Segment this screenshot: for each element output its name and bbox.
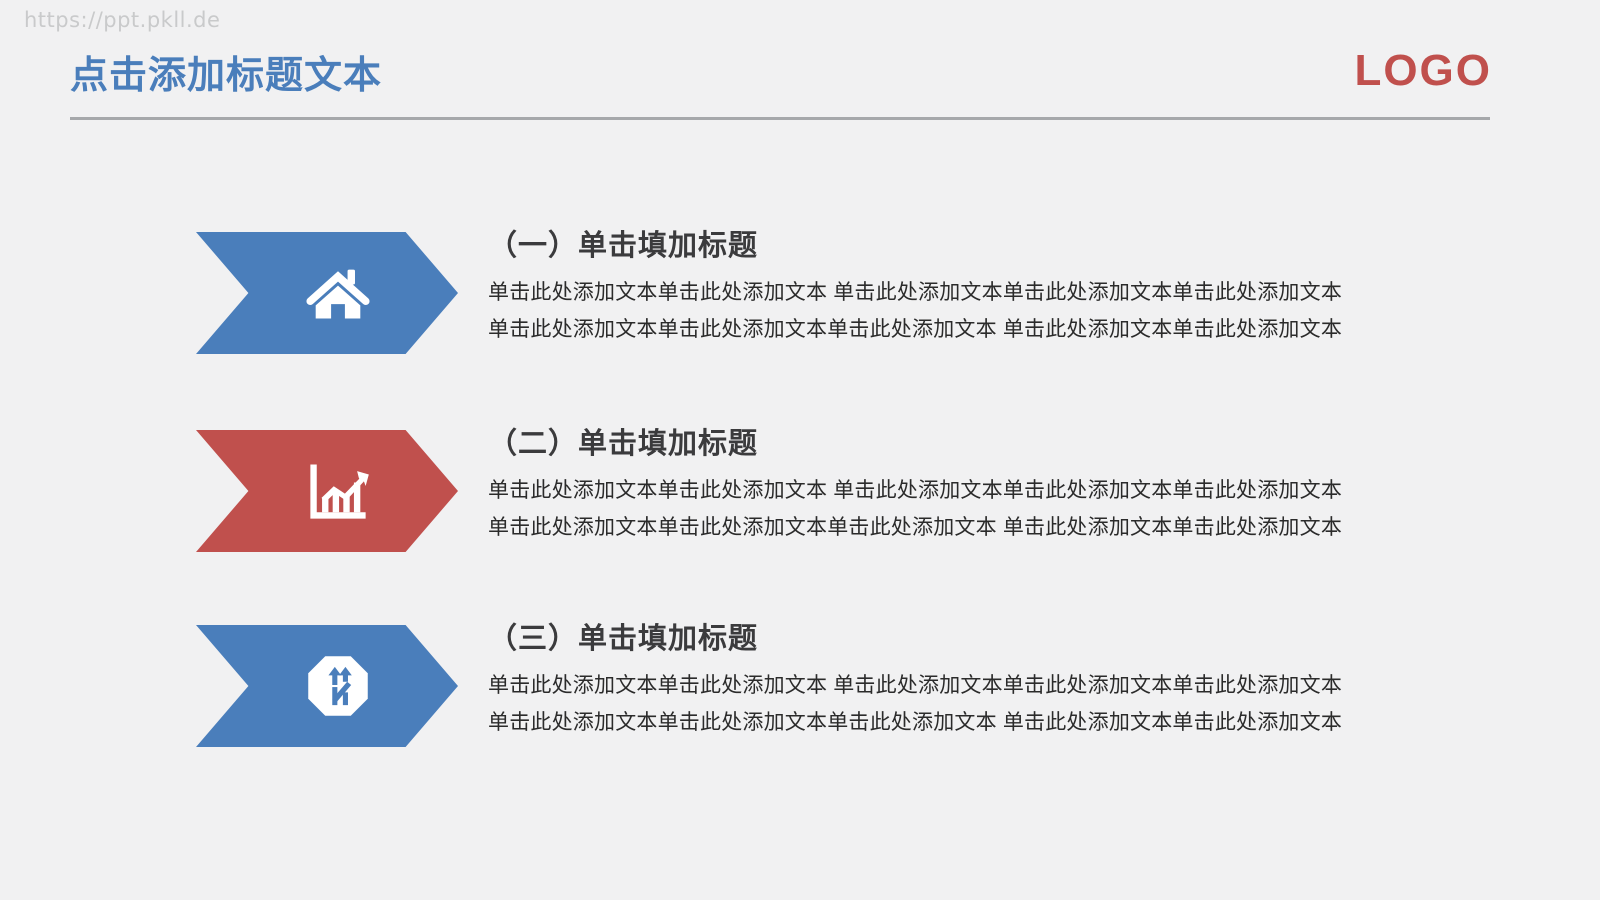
chevron-badge-1[interactable] [196, 232, 458, 354]
chevron-badge-3[interactable] [196, 625, 458, 747]
section-text-1: （一）单击填加标题 单击此处添加文本单击此处添加文本 单击此处添加文本单击此处添… [488, 222, 1388, 349]
section-body-line: 单击此处添加文本单击此处添加文本 单击此处添加文本单击此处添加文本单击此处添加文… [488, 667, 1388, 704]
list-item: （三）单击填加标题 单击此处添加文本单击此处添加文本 单击此处添加文本单击此处添… [0, 615, 1600, 775]
list-item: （二）单击填加标题 单击此处添加文本单击此处添加文本 单击此处添加文本单击此处添… [0, 420, 1600, 580]
shuffle-arrows-octagon-icon [304, 652, 372, 720]
section-body-line: 单击此处添加文本单击此处添加文本 单击此处添加文本单击此处添加文本单击此处添加文… [488, 472, 1388, 509]
sections-list: （一）单击填加标题 单击此处添加文本单击此处添加文本 单击此处添加文本单击此处添… [0, 0, 1600, 900]
section-heading: （三）单击填加标题 [488, 615, 1388, 657]
section-text-3: （三）单击填加标题 单击此处添加文本单击此处添加文本 单击此处添加文本单击此处添… [488, 615, 1388, 742]
section-heading: （一）单击填加标题 [488, 222, 1388, 264]
home-icon [304, 259, 372, 327]
section-heading: （二）单击填加标题 [488, 420, 1388, 462]
bar-chart-growth-icon [304, 457, 372, 525]
list-item: （一）单击填加标题 单击此处添加文本单击此处添加文本 单击此处添加文本单击此处添… [0, 222, 1600, 382]
chevron-badge-2[interactable] [196, 430, 458, 552]
section-body-line: 单击此处添加文本单击此处添加文本单击此处添加文本 单击此处添加文本单击此处添加文… [488, 311, 1388, 348]
section-body-line: 单击此处添加文本单击此处添加文本单击此处添加文本 单击此处添加文本单击此处添加文… [488, 509, 1388, 546]
section-body-line: 单击此处添加文本单击此处添加文本单击此处添加文本 单击此处添加文本单击此处添加文… [488, 704, 1388, 741]
section-text-2: （二）单击填加标题 单击此处添加文本单击此处添加文本 单击此处添加文本单击此处添… [488, 420, 1388, 547]
section-body-line: 单击此处添加文本单击此处添加文本 单击此处添加文本单击此处添加文本单击此处添加文… [488, 274, 1388, 311]
